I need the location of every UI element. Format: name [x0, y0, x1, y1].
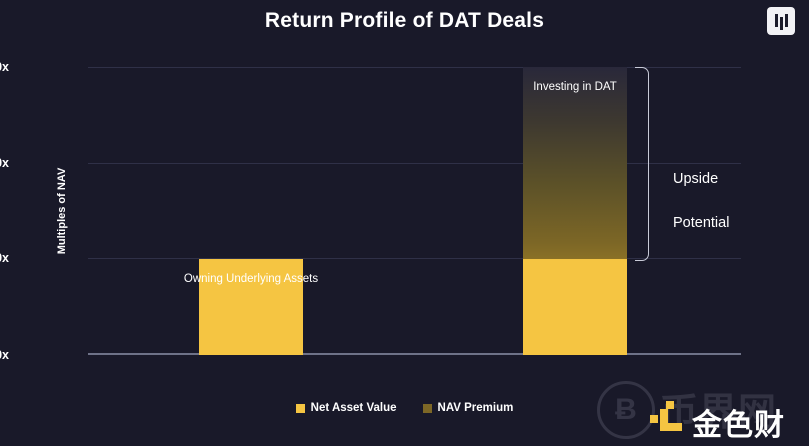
y-axis-label: Multiples of NAV — [56, 168, 68, 255]
bar-investing-in-dat[interactable]: Investing in DAT — [523, 67, 627, 355]
x-axis-line — [88, 353, 741, 355]
legend-item-net-asset-value[interactable]: Net Asset Value — [296, 402, 397, 414]
logo-bar-left — [775, 14, 778, 27]
logo-bar-right — [785, 14, 788, 27]
page-title: Return Profile of DAT Deals — [0, 9, 809, 33]
y-tick-3: 3.0x — [0, 60, 9, 74]
legend-swatch-icon — [296, 404, 305, 413]
bar-segment-net-asset-value[interactable] — [523, 259, 627, 355]
legend-label-nav-premium: NAV Premium — [438, 402, 514, 414]
bar-segment-nav-premium[interactable] — [523, 67, 627, 259]
legend-label-net-asset-value: Net Asset Value — [311, 402, 397, 414]
bitcoin-watermark-icon: Ƀ — [597, 381, 655, 439]
legend-swatch-icon — [423, 404, 432, 413]
annotation-line-1: Upside — [673, 168, 729, 190]
logo-bar-middle — [780, 17, 783, 30]
logo-square-left — [650, 415, 658, 423]
plot-area: 3.0x 2.0x 1.0x 0.0x Multiples of NAV Own… — [88, 67, 741, 355]
x-tick-owning-underlying-assets: Owning Underlying Assets — [101, 273, 401, 285]
logo-square-top — [666, 401, 674, 409]
x-tick-investing-in-dat: Investing in DAT — [425, 81, 725, 93]
upside-potential-bracket — [635, 67, 649, 261]
legend-item-nav-premium[interactable]: NAV Premium — [423, 402, 514, 414]
chart-screenshot: Return Profile of DAT Deals 3.0x 2.0x 1.… — [0, 0, 809, 446]
logo-elbow — [660, 409, 682, 431]
y-tick-1: 1.0x — [0, 251, 9, 265]
bar-owning-underlying-assets[interactable]: Owning Underlying Assets — [199, 259, 303, 355]
site-name-label: 金色财经 — [692, 400, 809, 446]
y-tick-2: 2.0x — [0, 156, 9, 170]
annotation-line-2: Potential — [673, 212, 729, 234]
upside-potential-label: Upside Potential — [673, 146, 729, 256]
jinse-logo-icon — [648, 399, 688, 439]
three-bars-logo-icon — [767, 7, 795, 35]
y-tick-0: 0.0x — [0, 348, 9, 362]
